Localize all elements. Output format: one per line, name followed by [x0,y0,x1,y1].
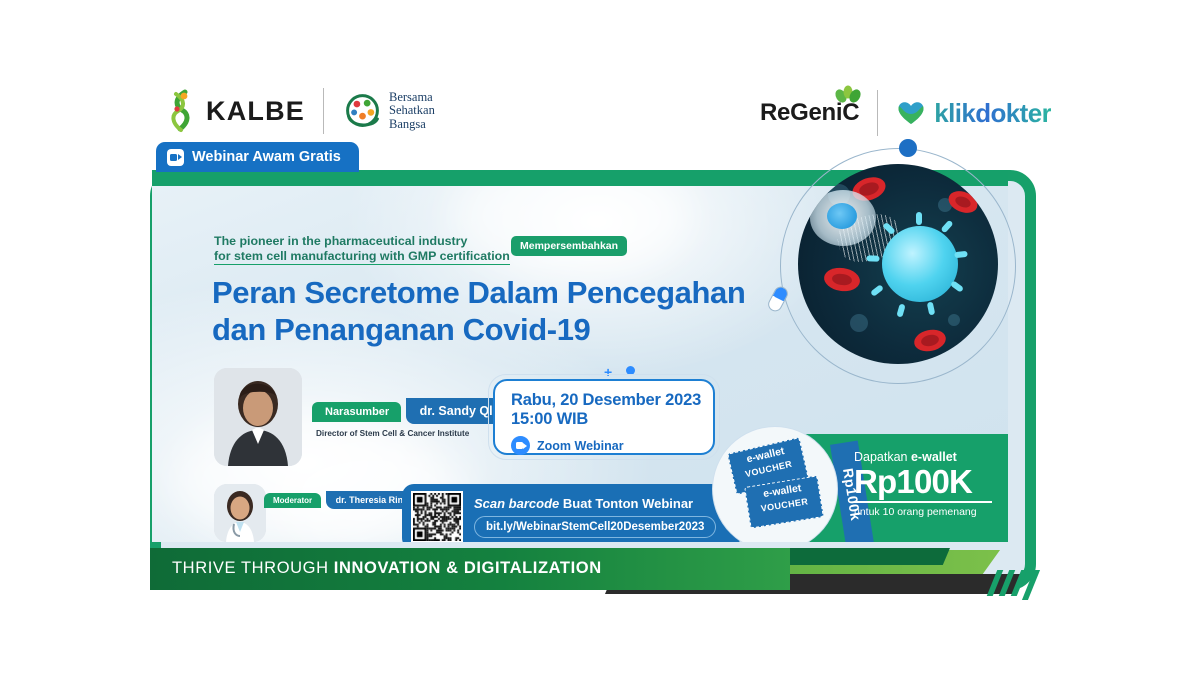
footer: THRIVE THROUGH INNOVATION & DIGITALIZATI… [150,548,1036,594]
moderator-avatar [214,484,266,542]
zoom-camera-icon [167,149,184,166]
red-blood-cell-4 [912,327,948,354]
logo-divider-right [877,90,878,136]
orbit-dot-icon [899,139,917,157]
kalbe-wordmark: KALBE [206,96,305,127]
spike-7 [870,284,884,297]
spike-3 [954,251,968,258]
red-blood-cell-3 [823,266,862,294]
schedule-platform-label: Zoom Webinar [537,439,624,453]
klikdokter-logo: klikdokter [896,98,1051,129]
partner-logos-left: KALBE Bersama Sehatkan Bangsa [165,88,435,134]
voucher-promo: Rp100k e-wallet VOUCHER e-wallet VOUCHER… [750,434,1008,542]
logo-divider-left [323,88,324,134]
voucher-headline-strong: e-wallet [911,450,957,464]
qr-code-canvas[interactable] [413,493,461,541]
spike-6 [896,303,905,317]
klikdokter-wordmark: klikdokter [934,98,1051,129]
bokeh-3 [850,314,868,332]
tagline: The pioneer in the pharmaceutical indust… [214,234,510,264]
bsb-line-3: Bangsa [389,118,435,132]
webinar-type-tab: Webinar Awam Gratis [156,142,359,172]
partner-logos-right: ReGeniC klikdokter [760,90,1051,136]
registration-bar[interactable]: Scan barcode Buat Tonton Webinar bit.ly/… [402,484,740,542]
title-line-1: Peran Secretome Dalam Pencegahan [212,274,745,311]
regenic-logo: ReGeniC [760,99,859,127]
bsb-line-2: Sehatkan [389,104,435,118]
bersama-sehatkan-bangsa-logo: Bersama Sehatkan Bangsa [342,91,435,132]
zoom-logo-icon [511,436,530,455]
regenic-leaf-icon [833,85,861,105]
scan-emphasis: Scan barcode [474,496,559,511]
scan-rest: Buat Tonton Webinar [563,496,693,511]
spike-4 [950,280,964,292]
tagline-line-2: for stem cell manufacturing with GMP cer… [214,249,510,265]
schedule-date: Rabu, 20 Desember 2023 [511,391,713,410]
schedule-platform: Zoom Webinar [511,436,713,455]
klikdokter-heart-icon [896,100,926,126]
tagline-line-1: The pioneer in the pharmaceutical indust… [214,234,510,249]
voucher-amount: Rp100K [854,464,992,499]
speaker-role-chip: Narasumber [312,402,401,422]
stem-cell-blob [810,190,876,246]
voucher-headline-prefix: Dapatkan [854,450,911,464]
qr-code[interactable] [411,491,463,542]
bsb-mark-icon [342,91,383,132]
speaker-portrait-icon [214,368,302,466]
schedule-time: 15:00 WIB [511,410,713,429]
voucher-headline: Dapatkan e-wallet [854,450,992,464]
presents-badge: Mempersembahkan [511,236,627,256]
bokeh-4 [948,314,960,326]
voucher-subtitle: untuk 10 orang pemenang [854,506,992,518]
footer-chevrons [988,570,1036,596]
moderator-portrait-icon [214,484,266,542]
page-title: Peran Secretome Dalam Pencegahan dan Pen… [212,274,745,348]
voucher-rule [854,501,992,503]
kalbe-logo-icon [165,89,199,133]
bsb-wordmark: Bersama Sehatkan Bangsa [389,91,435,132]
schedule-card: Rabu, 20 Desember 2023 15:00 WIB Zoom We… [488,374,720,460]
logo-bar: KALBE Bersama Sehatkan Bangsa ReGeniC [0,88,1200,150]
virion-body [882,226,958,302]
speaker-avatar [214,368,302,466]
footer-slogan-light: THRIVE THROUGH [172,559,334,577]
spike-1 [916,212,922,225]
voucher-graphic: e-wallet VOUCHER e-wallet VOUCHER [712,426,838,542]
poster: Webinar Awam Gratis The pioneer in the p… [150,156,1036,590]
virus-photo [798,164,998,364]
footer-slogan-bold: INNOVATION & DIGITALIZATION [334,559,602,577]
registration-link[interactable]: bit.ly/WebinarStemCell20Desember2023 [474,516,716,538]
bsb-line-1: Bersama [389,91,435,105]
spike-5 [927,302,936,316]
footer-slogan: THRIVE THROUGH INNOVATION & DIGITALIZATI… [172,559,602,578]
spike-2 [940,220,953,234]
moderator-role-chip: Moderator [264,493,321,508]
voucher-text: Dapatkan e-wallet Rp100K untuk 10 orang … [854,450,992,518]
title-line-2: dan Penanganan Covid-19 [212,311,745,348]
scan-instruction: Scan barcode Buat Tonton Webinar [474,496,716,511]
spike-8 [866,255,879,261]
webinar-type-label: Webinar Awam Gratis [192,149,341,165]
